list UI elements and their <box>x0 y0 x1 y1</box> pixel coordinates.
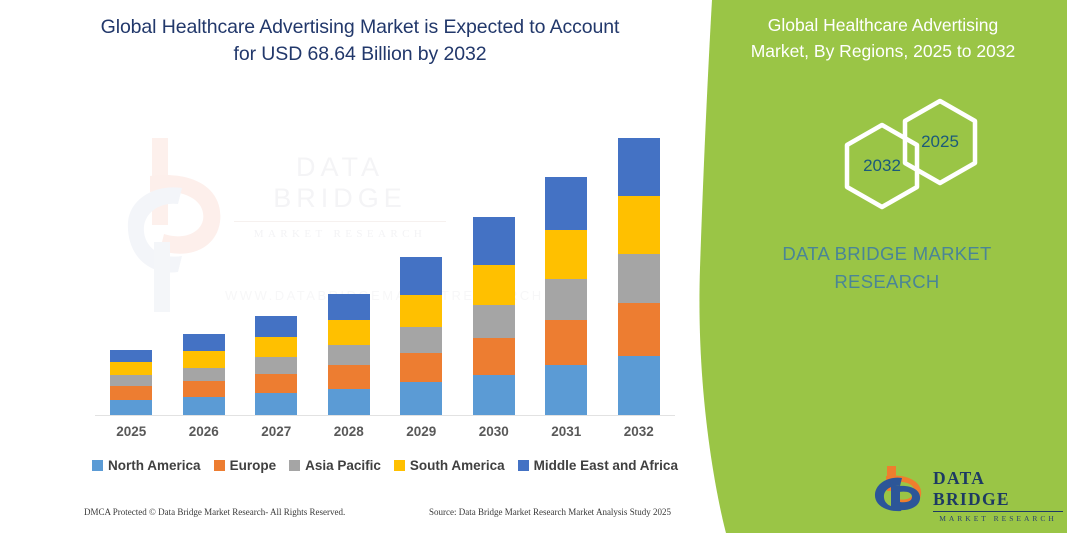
data-bridge-logo: DATA BRIDGE MARKET RESEARCH <box>873 462 1063 514</box>
hexagon-2025-label: 2025 <box>901 98 979 186</box>
green-panel-content: Global Healthcare Advertising Market, By… <box>728 0 1067 533</box>
panel-title-line-1: Global Healthcare Advertising <box>718 12 1048 38</box>
logo-main-text: DATA BRIDGE <box>933 468 1063 510</box>
logo-text-block: DATA BRIDGE MARKET RESEARCH <box>933 468 1063 523</box>
panel-brand-text: DATA BRIDGE MARKET RESEARCH <box>722 240 1052 296</box>
logo-divider <box>933 511 1063 512</box>
logo-sub-text: MARKET RESEARCH <box>933 514 1063 523</box>
infographic-root: Global Healthcare Advertising Market is … <box>0 0 1067 533</box>
data-bridge-logo-icon <box>873 464 931 512</box>
panel-title: Global Healthcare Advertising Market, By… <box>718 12 1048 64</box>
hexagon-group: 2032 2025 <box>803 98 1003 210</box>
panel-brand-line-2: RESEARCH <box>722 268 1052 296</box>
hexagon-2025: 2025 <box>901 98 979 186</box>
panel-title-line-2: Market, By Regions, 2025 to 2032 <box>718 38 1048 64</box>
panel-brand-line-1: DATA BRIDGE MARKET <box>722 240 1052 268</box>
